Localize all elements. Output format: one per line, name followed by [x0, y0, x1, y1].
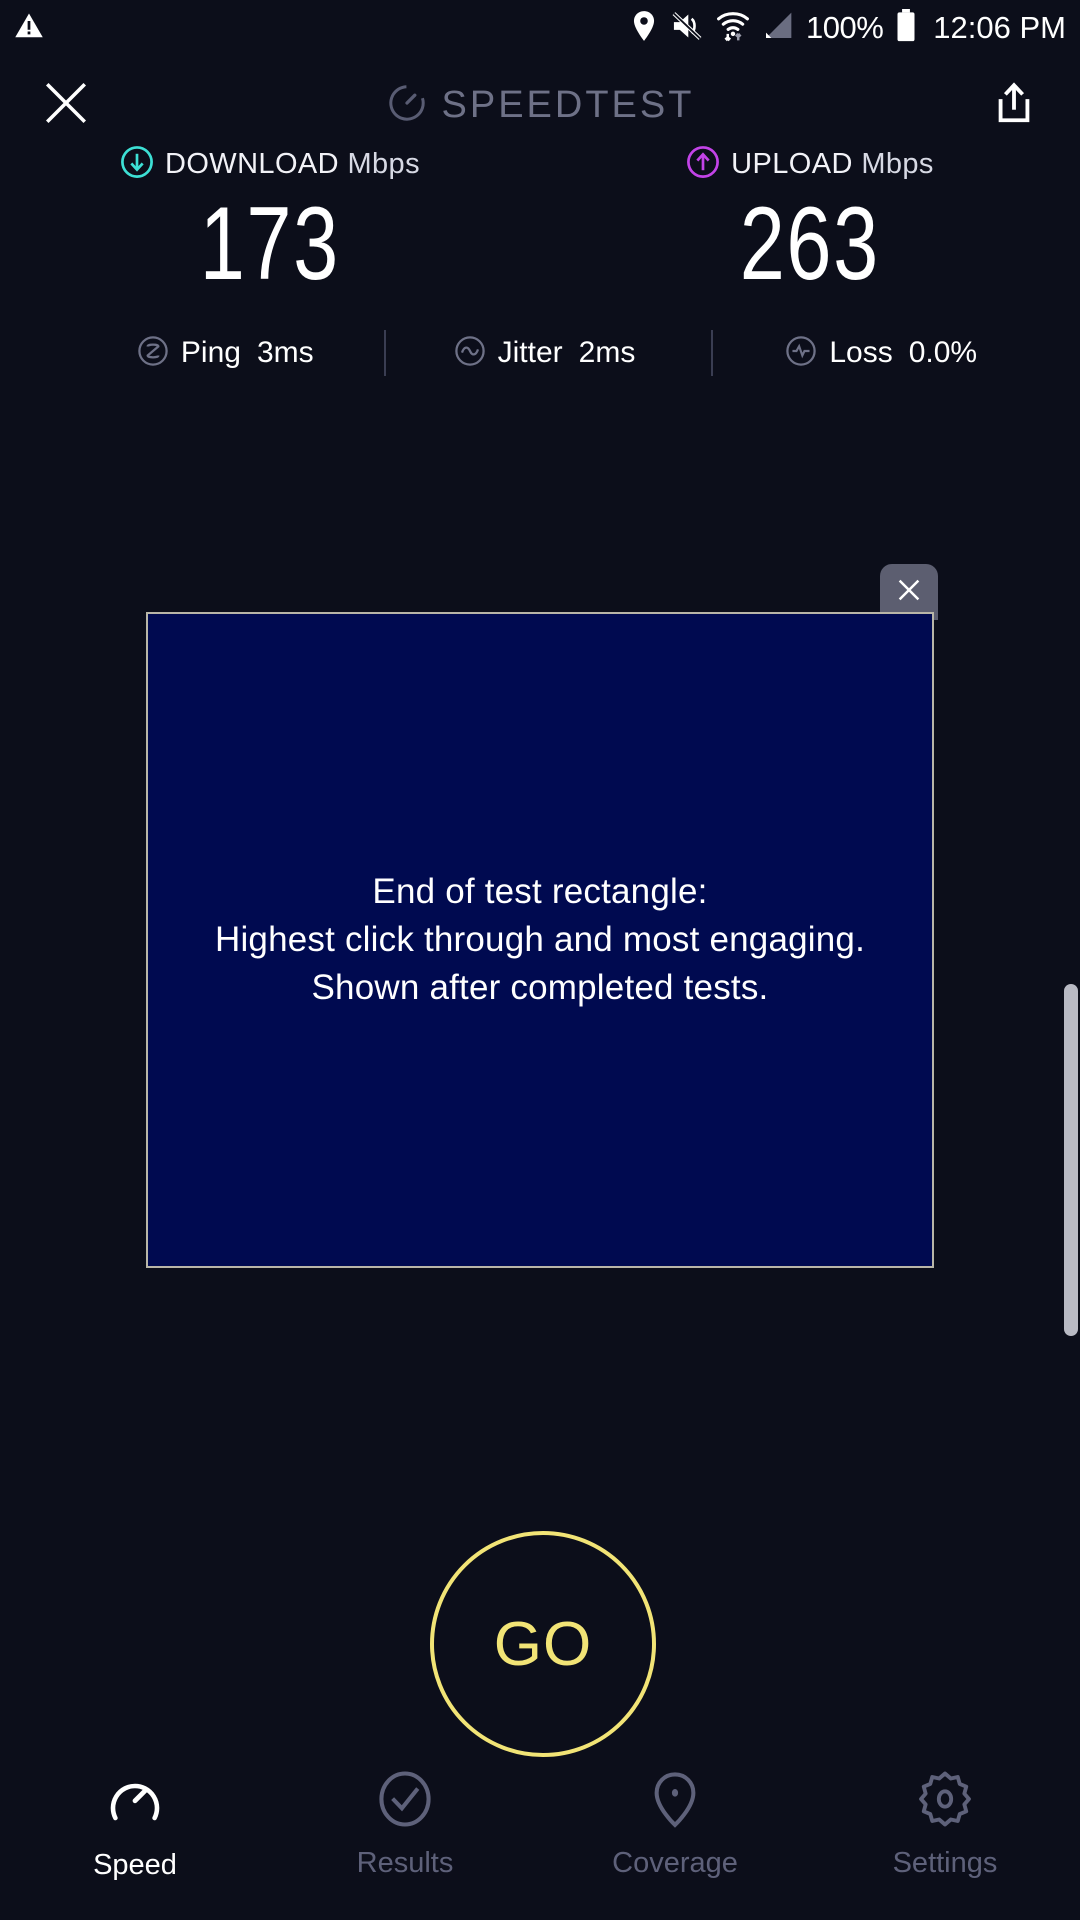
- metric-jitter: Jitter 2ms: [454, 335, 636, 372]
- app-header: SPEEDTEST: [0, 56, 1080, 154]
- nav-label-settings: Settings: [893, 1847, 998, 1880]
- check-circle-icon: [376, 1770, 434, 1833]
- status-bar: 100% 12:06 PM: [0, 0, 1080, 56]
- jitter-icon: [454, 335, 486, 372]
- wifi-icon: [716, 9, 750, 48]
- advertisement-banner[interactable]: End of test rectangle: Highest click thr…: [146, 612, 934, 1268]
- clock-label: 12:06 PM: [933, 10, 1066, 46]
- download-value: 173: [200, 192, 340, 296]
- nav-label-results: Results: [357, 1847, 454, 1880]
- speedometer-icon: [105, 1770, 165, 1835]
- battery-full-icon: [895, 9, 917, 48]
- results-panel: DOWNLOAD Mbps 173 UPLOAD Mbps 263: [0, 145, 1080, 376]
- upload-result: UPLOAD Mbps 263: [540, 145, 1080, 296]
- status-bar-left: [14, 11, 44, 46]
- go-button[interactable]: GO: [430, 1531, 656, 1757]
- loss-value: 0.0%: [909, 336, 977, 370]
- metric-ping: Ping 3ms: [137, 335, 314, 372]
- close-app-button[interactable]: [36, 75, 96, 135]
- arrow-down-circle-icon: [120, 145, 154, 184]
- page-scrollbar[interactable]: [1066, 56, 1080, 1920]
- speedometer-icon: [386, 82, 428, 129]
- close-icon: [894, 575, 924, 610]
- speed-summary-row: DOWNLOAD Mbps 173 UPLOAD Mbps 263: [0, 145, 1080, 296]
- nav-label-speed: Speed: [93, 1849, 177, 1882]
- nav-item-coverage[interactable]: Coverage: [540, 1770, 810, 1880]
- download-header: DOWNLOAD Mbps: [120, 145, 420, 184]
- upload-header: UPLOAD Mbps: [686, 145, 934, 184]
- location-pin-icon: [646, 1770, 704, 1833]
- bottom-navigation: Speed Results Coverage Settings: [0, 1760, 1080, 1920]
- status-bar-right: 100% 12:06 PM: [630, 9, 1066, 48]
- jitter-label: Jitter: [498, 336, 563, 370]
- metric-separator: [384, 330, 386, 376]
- nav-item-settings[interactable]: Settings: [810, 1770, 1080, 1880]
- brand: SPEEDTEST: [96, 82, 984, 129]
- metric-loss: Loss 0.0%: [785, 335, 977, 372]
- share-button[interactable]: [984, 75, 1044, 135]
- scrollbar-thumb[interactable]: [1064, 984, 1078, 1336]
- ad-text: End of test rectangle: Highest click thr…: [215, 868, 865, 1012]
- app-title: SPEEDTEST: [442, 84, 695, 127]
- ping-label: Ping: [181, 336, 241, 370]
- location-pin-icon: [630, 10, 658, 47]
- upload-label: UPLOAD Mbps: [731, 148, 934, 181]
- mute-icon: [670, 10, 704, 47]
- nav-item-speed[interactable]: Speed: [0, 1770, 270, 1882]
- go-button-label: GO: [494, 1609, 592, 1680]
- upload-value: 263: [740, 192, 880, 296]
- nav-item-results[interactable]: Results: [270, 1770, 540, 1880]
- battery-percent-label: 100%: [806, 10, 883, 46]
- metric-separator: [711, 330, 713, 376]
- download-label: DOWNLOAD Mbps: [165, 148, 420, 181]
- metrics-row: Ping 3ms Jitter 2ms Loss 0.0: [0, 330, 1080, 376]
- ping-icon: [137, 335, 169, 372]
- cellular-signal-icon: [762, 11, 794, 46]
- nav-label-coverage: Coverage: [612, 1847, 738, 1880]
- close-icon: [41, 78, 91, 133]
- gear-icon: [916, 1770, 974, 1833]
- share-icon: [991, 80, 1037, 131]
- ping-value: 3ms: [257, 336, 314, 370]
- download-result: DOWNLOAD Mbps 173: [0, 145, 540, 296]
- loss-icon: [785, 335, 817, 372]
- loss-label: Loss: [829, 336, 892, 370]
- jitter-value: 2ms: [579, 336, 636, 370]
- warning-triangle-icon: [14, 11, 44, 46]
- arrow-up-circle-icon: [686, 145, 720, 184]
